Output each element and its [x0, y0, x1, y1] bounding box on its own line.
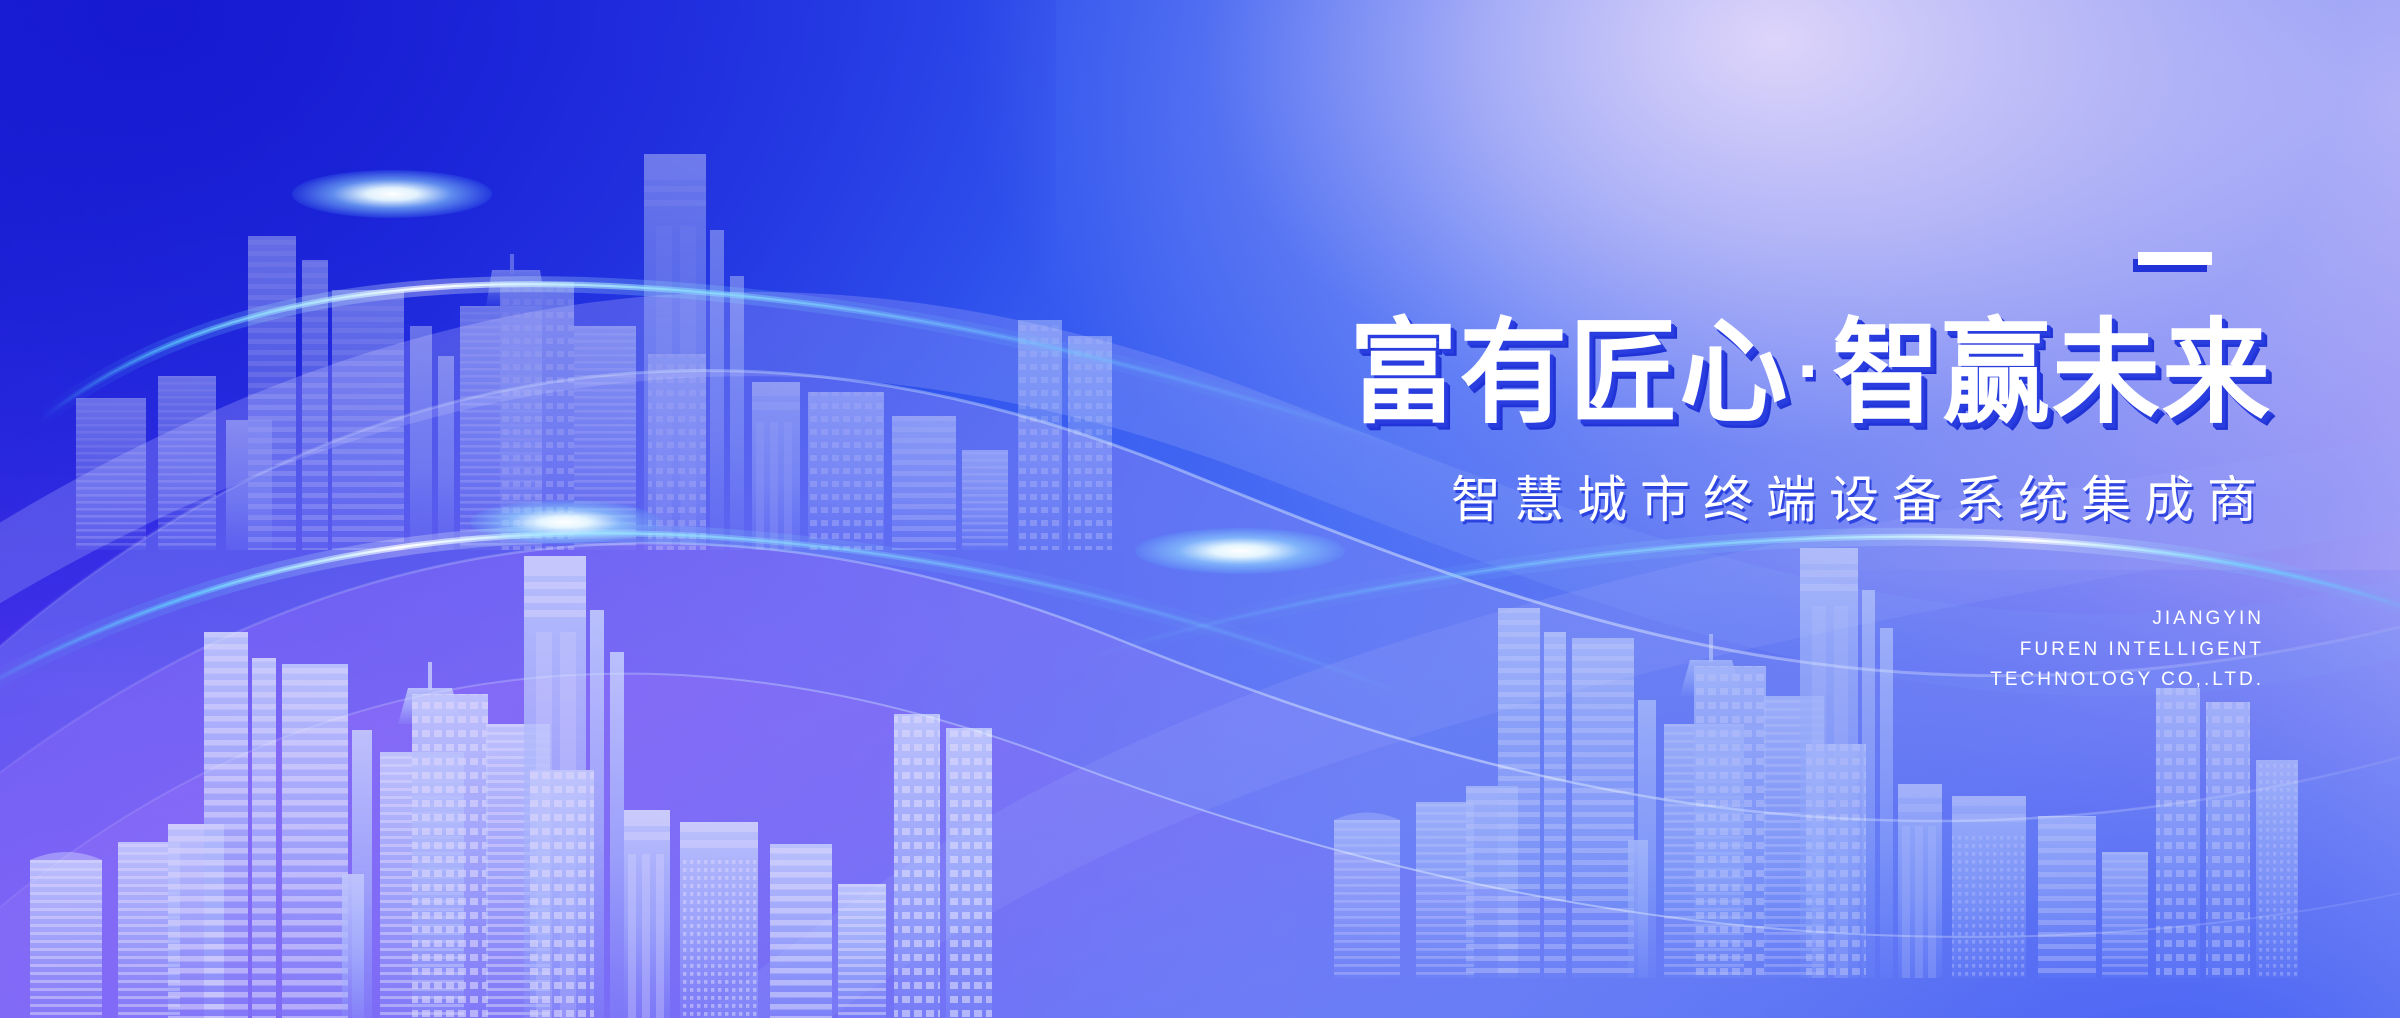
company-line-city: JIANGYIN	[1072, 604, 2264, 635]
dash-mark-row	[1072, 252, 2212, 265]
headline-part-two: 智赢未来	[1832, 309, 2272, 436]
company-line-name: FUREN INTELLIGENT	[1072, 635, 2264, 666]
dash-mark-icon	[2138, 252, 2212, 265]
text-content-block: 富有匠心·智赢未来 智慧城市终端设备系统集成商 JIANGYIN FUREN I…	[1072, 252, 2272, 696]
subheadline: 智慧城市终端设备系统集成商	[1072, 470, 2272, 530]
company-name-block: JIANGYIN FUREN INTELLIGENT TECHNOLOGY CO…	[1072, 604, 2272, 696]
banner-poster: 富有匠心·智赢未来 智慧城市终端设备系统集成商 JIANGYIN FUREN I…	[0, 0, 2400, 1018]
company-line-suffix: TECHNOLOGY CO,.LTD.	[1072, 665, 2264, 696]
headline-separator: ·	[1789, 327, 1832, 414]
headline-part-one: 富有匠心	[1349, 309, 1789, 436]
headline: 富有匠心·智赢未来	[1072, 310, 2272, 437]
